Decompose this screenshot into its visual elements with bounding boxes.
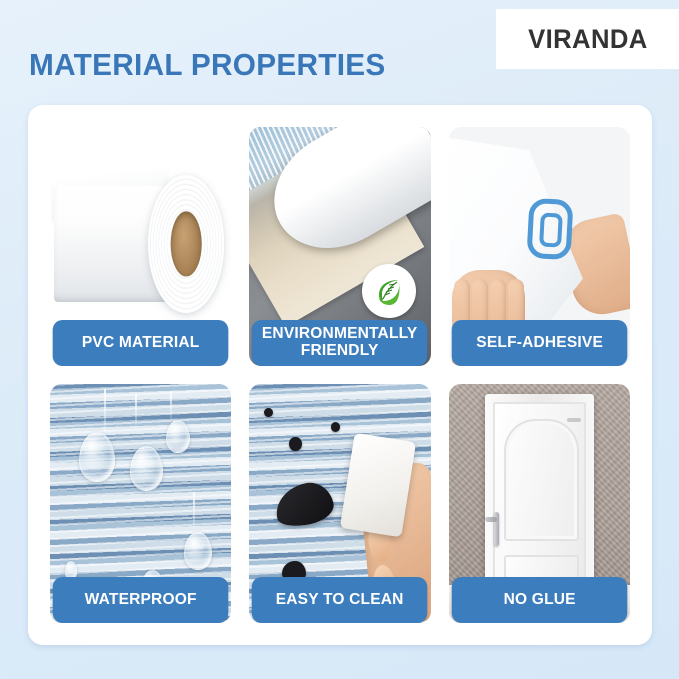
feature-label-self-adhesive: SELF-ADHESIVE (451, 320, 627, 366)
eco-badge (362, 264, 416, 318)
feature-label-easy-to-clean: EASY TO CLEAN (252, 577, 428, 623)
brand-name: VIRANDA (528, 24, 648, 55)
brand-logo: VIRANDA (496, 9, 679, 69)
feature-cell-waterproof: WATERPROOF (50, 384, 231, 623)
stain-spot (289, 437, 302, 451)
feature-label-text: WATERPROOF (85, 592, 197, 608)
door-handle (494, 512, 499, 546)
feature-cell-environmentally-friendly: ENVIRONMENTALLY FRIENDLY (249, 127, 430, 366)
feature-label-environmentally-friendly: ENVIRONMENTALLY FRIENDLY (252, 320, 428, 366)
water-droplet (184, 532, 211, 570)
feature-label-text: NO GLUE (503, 592, 575, 608)
feature-label-text: EASY TO CLEAN (276, 592, 404, 608)
feature-cell-no-glue: NO GLUE (449, 384, 630, 623)
water-streak (104, 389, 106, 442)
door-panel-top (504, 419, 579, 541)
feature-label-text: ENVIRONMENTALLY FRIENDLY (262, 326, 418, 360)
roll-cardboard-core (171, 212, 202, 277)
water-streak (170, 391, 172, 424)
water-streak (135, 394, 137, 432)
features-card: PVC MATERIAL (28, 105, 652, 645)
feature-label-text: PVC MATERIAL (82, 335, 200, 351)
feature-cell-pvc-material: PVC MATERIAL (50, 127, 231, 366)
page-title: MATERIAL PROPERTIES (29, 47, 386, 83)
roll-end-face (148, 175, 225, 314)
feature-label-no-glue: NO GLUE (451, 577, 627, 623)
door-latch (567, 418, 581, 422)
water-droplet (166, 420, 190, 453)
infographic-page: VIRANDA MATERIAL PROPERTIES PVC MATERIAL (0, 0, 679, 679)
feature-cell-easy-to-clean: EASY TO CLEAN (249, 384, 430, 623)
stain-spot (331, 422, 340, 432)
feature-label-pvc-material: PVC MATERIAL (53, 320, 229, 366)
features-grid: PVC MATERIAL (50, 127, 630, 623)
leaf-icon (373, 275, 405, 307)
feature-label-waterproof: WATERPROOF (53, 577, 229, 623)
water-droplet (130, 446, 163, 491)
pvc-roll-illustration (54, 175, 228, 314)
roll-core-tip (388, 127, 431, 134)
feature-label-text: SELF-ADHESIVE (476, 335, 603, 351)
feature-cell-self-adhesive: SELF-ADHESIVE (449, 127, 630, 366)
paperclip-icon (527, 198, 574, 260)
water-streak (193, 492, 195, 535)
